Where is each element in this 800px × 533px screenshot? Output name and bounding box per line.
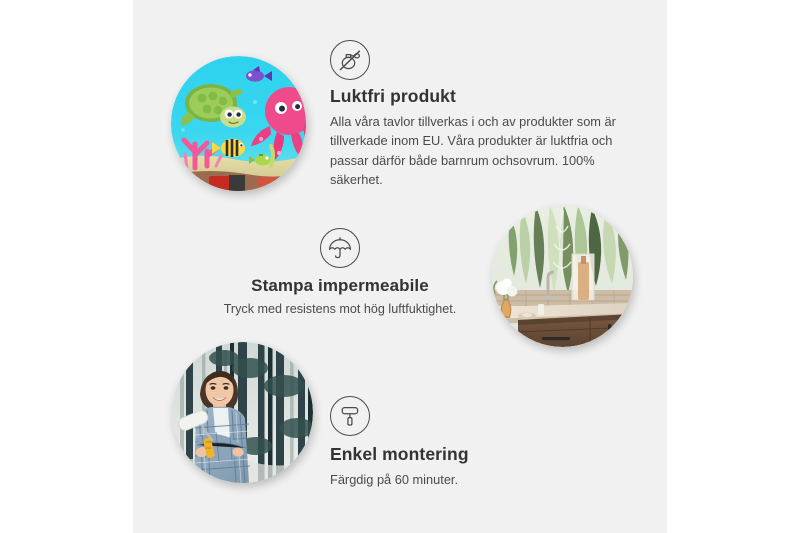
feature-easy-mounting: Enkel montering Färgdig på 60 minuter. xyxy=(330,396,630,489)
product-image-forest xyxy=(172,342,313,483)
feature-title: Stampa impermeabile xyxy=(210,275,470,296)
feature-odour-free: Luktfri produkt Alla våra tavlor tillver… xyxy=(330,40,630,190)
product-image-underwater xyxy=(171,56,306,191)
feature-description: Färgdig på 60 minuter. xyxy=(330,470,630,489)
umbrella-icon xyxy=(320,228,360,268)
no-odour-perfume-bottle-icon xyxy=(330,40,370,80)
product-image-bathroom xyxy=(492,206,633,347)
feature-title: Enkel montering xyxy=(330,444,630,466)
feature-waterproof: Stampa impermeabile Tryck med resistens … xyxy=(210,228,470,319)
feature-description: Alla våra tavlor tillverkas i och av pro… xyxy=(330,112,622,190)
paint-roller-icon xyxy=(330,396,370,436)
feature-title: Luktfri produkt xyxy=(330,86,630,108)
product-feature-page: Luktfri produkt Alla våra tavlor tillver… xyxy=(0,0,800,533)
feature-description: Tryck med resistens mot hög luftfuktighe… xyxy=(210,300,470,319)
